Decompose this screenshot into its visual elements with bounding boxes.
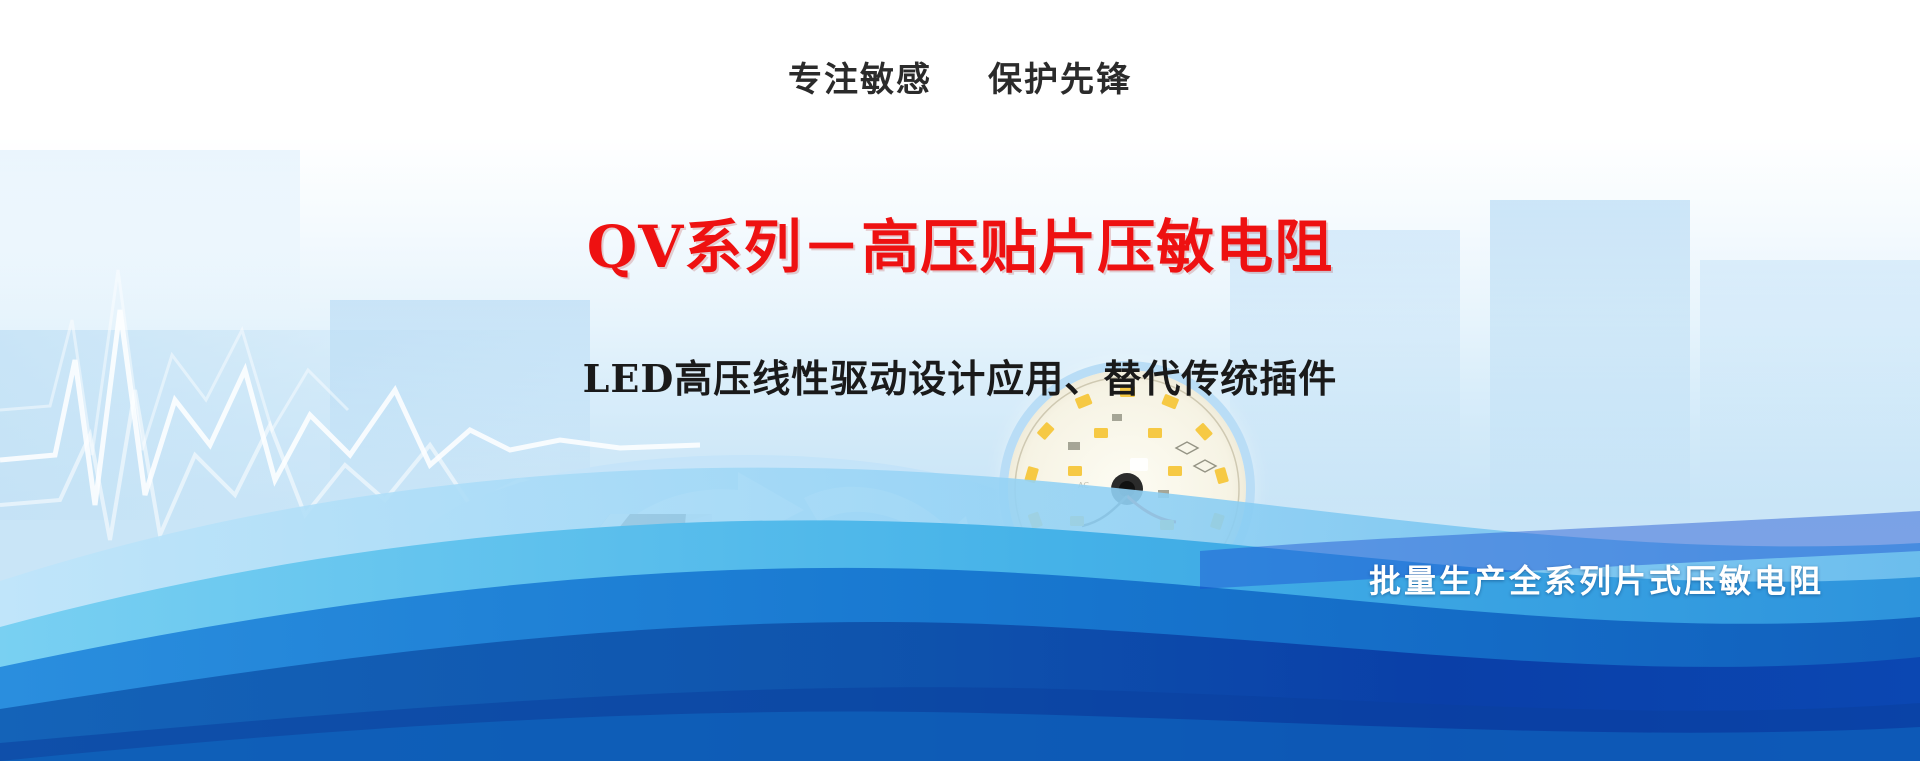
- banner-slogan: 专注敏感保护先锋: [0, 52, 1920, 101]
- slogan-left: 专注敏感: [788, 60, 932, 100]
- slogan-right: 保护先锋: [988, 60, 1132, 100]
- banner-footnote: 批量生产全系列片式压敏电阻: [1369, 556, 1824, 602]
- banner-headline: QV系列－高压贴片压敏电阻: [0, 200, 1920, 284]
- promo-banner: AC N: [0, 0, 1920, 761]
- banner-subheadline: LED高压线性驱动设计应用、替代传统插件: [0, 348, 1920, 403]
